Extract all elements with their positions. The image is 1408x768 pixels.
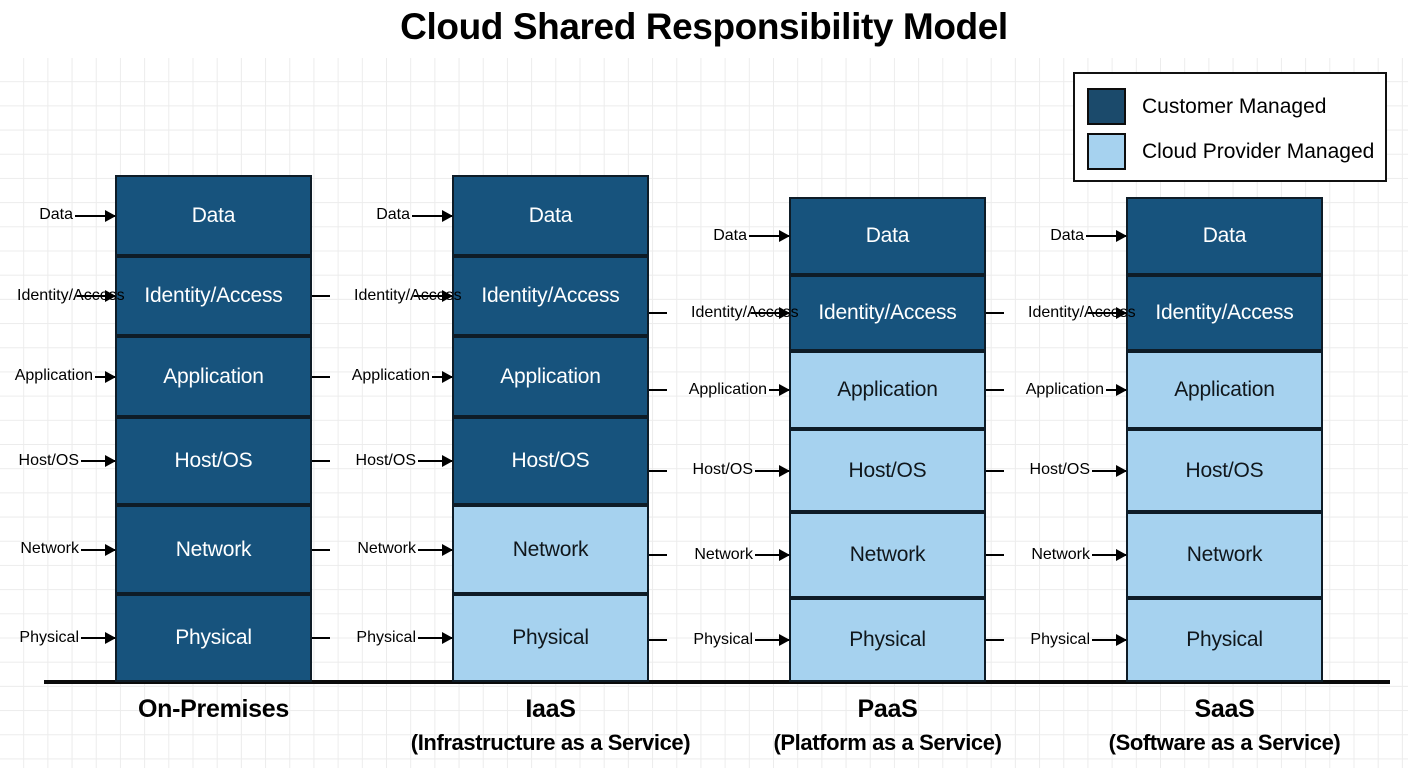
legend-item-label: Customer Managed <box>1142 95 1326 119</box>
arrow-label-paas-network: Network <box>663 544 789 566</box>
arrow-text: Application <box>689 382 767 399</box>
stack-saas: DataIdentity/AccessApplicationHost/OSNet… <box>1126 197 1323 682</box>
layer-label: Host/OS <box>849 459 927 483</box>
cloud-provider-managed-swatch <box>1087 133 1126 170</box>
connector-line <box>986 470 1004 472</box>
connector-line <box>312 295 330 297</box>
layer-label: Host/OS <box>1186 459 1264 483</box>
layer-saas-application[interactable]: Application <box>1126 351 1323 429</box>
arrow-text: Application <box>352 368 430 385</box>
arrow-label-paas-identity-access: Identity/Access <box>663 302 789 324</box>
layer-label: Application <box>1174 378 1275 402</box>
layer-saas-identity-access[interactable]: Identity/Access <box>1126 275 1323 351</box>
arrow-head-icon <box>769 389 789 391</box>
layer-label: Application <box>163 365 264 389</box>
arrow-head-icon <box>418 460 452 462</box>
connector-line <box>649 312 667 314</box>
layer-label: Physical <box>849 628 926 652</box>
layer-iaas-identity-access[interactable]: Identity/Access <box>452 256 649 336</box>
layer-label: Physical <box>1186 628 1263 652</box>
layer-label: Host/OS <box>512 449 590 473</box>
arrow-label-saas-application: Application <box>1000 379 1126 401</box>
layer-label: Application <box>837 378 938 402</box>
arrow-label-saas-host-os: Host/OS <box>1000 460 1126 482</box>
arrow-text: Host/OS <box>19 453 79 470</box>
arrow-text: Host/OS <box>356 453 416 470</box>
arrow-head-icon <box>749 235 789 237</box>
layer-iaas-physical[interactable]: Physical <box>452 594 649 682</box>
arrow-text: Network <box>357 541 416 558</box>
arrow-text: Physical <box>356 630 416 647</box>
layer-iaas-network[interactable]: Network <box>452 505 649 594</box>
connector-line <box>649 639 667 641</box>
layer-paas-network[interactable]: Network <box>789 512 986 598</box>
layer-on-premises-host-os[interactable]: Host/OS <box>115 417 312 505</box>
arrow-text: Data <box>1050 228 1084 245</box>
arrow-text: Data <box>713 228 747 245</box>
stack-paas: DataIdentity/AccessApplicationHost/OSNet… <box>789 197 986 682</box>
arrow-head-icon <box>81 549 115 551</box>
arrow-head-icon <box>1088 312 1126 314</box>
layer-label: Data <box>866 224 910 248</box>
layer-iaas-application[interactable]: Application <box>452 336 649 417</box>
layer-saas-data[interactable]: Data <box>1126 197 1323 275</box>
stack-on-premises: DataIdentity/AccessApplicationHost/OSNet… <box>115 175 312 682</box>
column-caption-on-premises: On-Premises <box>25 695 402 724</box>
column-caption-paas: PaaS(Platform as a Service) <box>699 695 1076 756</box>
connector-line <box>312 376 330 378</box>
arrow-head-icon <box>1106 389 1126 391</box>
layer-paas-data[interactable]: Data <box>789 197 986 275</box>
arrow-head-icon <box>755 639 789 641</box>
arrow-head-icon <box>412 215 452 217</box>
column-title: IaaS <box>362 695 739 724</box>
diagram-canvas: Cloud Shared Responsibility Model Custom… <box>0 0 1408 768</box>
page-title: Cloud Shared Responsibility Model <box>0 6 1408 48</box>
connector-line <box>649 470 667 472</box>
layer-on-premises-identity-access[interactable]: Identity/Access <box>115 256 312 336</box>
arrow-label-on-premises-physical: Physical <box>3 627 115 649</box>
layer-label: Physical <box>175 626 252 650</box>
arrow-text: Data <box>376 207 410 224</box>
arrow-head-icon <box>95 376 115 378</box>
column-subtitle: (Infrastructure as a Service) <box>362 730 739 756</box>
arrow-text: Host/OS <box>1030 462 1090 479</box>
connector-line <box>312 637 330 639</box>
arrow-label-saas-physical: Physical <box>1000 629 1126 651</box>
layer-on-premises-application[interactable]: Application <box>115 336 312 417</box>
column-subtitle: (Software as a Service) <box>1036 730 1408 756</box>
arrow-head-icon <box>755 470 789 472</box>
arrow-label-iaas-network: Network <box>326 539 452 561</box>
connector-line <box>986 389 1004 391</box>
column-title: SaaS <box>1036 695 1408 724</box>
layer-paas-host-os[interactable]: Host/OS <box>789 429 986 512</box>
column-subtitle: (Platform as a Service) <box>699 730 1076 756</box>
arrow-text: Physical <box>19 630 79 647</box>
arrow-text: Host/OS <box>693 462 753 479</box>
arrow-head-icon <box>1092 554 1126 556</box>
layer-iaas-host-os[interactable]: Host/OS <box>452 417 649 505</box>
arrow-head-icon <box>432 376 452 378</box>
arrow-label-on-premises-network: Network <box>3 539 115 561</box>
legend-item-customer-managed: Customer Managed <box>1087 84 1373 129</box>
layer-label: Network <box>513 538 589 562</box>
column-title: PaaS <box>699 695 1076 724</box>
arrow-head-icon <box>75 215 115 217</box>
arrow-label-iaas-application: Application <box>326 366 452 388</box>
layer-saas-host-os[interactable]: Host/OS <box>1126 429 1323 512</box>
arrow-label-on-premises-data: Data <box>3 205 115 227</box>
layer-label: Identity/Access <box>818 301 956 325</box>
layer-label: Host/OS <box>175 449 253 473</box>
layer-paas-physical[interactable]: Physical <box>789 598 986 682</box>
arrow-head-icon <box>81 637 115 639</box>
layer-label: Network <box>1187 543 1263 567</box>
layer-label: Physical <box>512 626 589 650</box>
arrow-text: Physical <box>693 632 753 649</box>
layer-on-premises-network[interactable]: Network <box>115 505 312 594</box>
arrow-label-paas-host-os: Host/OS <box>663 460 789 482</box>
customer-managed-swatch <box>1087 88 1126 125</box>
layer-label: Data <box>192 204 236 228</box>
layer-on-premises-physical[interactable]: Physical <box>115 594 312 682</box>
layer-saas-network[interactable]: Network <box>1126 512 1323 598</box>
arrow-label-iaas-physical: Physical <box>326 627 452 649</box>
layer-label: Application <box>500 365 601 389</box>
connector-line <box>986 639 1004 641</box>
arrow-label-iaas-identity-access: Identity/Access <box>326 285 452 307</box>
layer-label: Identity/Access <box>1155 301 1293 325</box>
arrow-text: Physical <box>1030 632 1090 649</box>
layer-label: Network <box>850 543 926 567</box>
arrow-text: Application <box>15 368 93 385</box>
connector-line <box>312 549 330 551</box>
layer-on-premises-data[interactable]: Data <box>115 175 312 256</box>
stack-iaas: DataIdentity/AccessApplicationHost/OSNet… <box>452 175 649 682</box>
arrow-head-icon <box>77 295 115 297</box>
layer-paas-identity-access[interactable]: Identity/Access <box>789 275 986 351</box>
arrow-label-paas-data: Data <box>663 225 789 247</box>
layer-label: Identity/Access <box>144 284 282 308</box>
arrow-text: Application <box>1026 382 1104 399</box>
connector-line <box>649 389 667 391</box>
arrow-head-icon <box>1092 470 1126 472</box>
arrow-head-icon <box>81 460 115 462</box>
legend: Customer Managed Cloud Provider Managed <box>1073 72 1387 182</box>
arrow-label-on-premises-application: Application <box>3 366 115 388</box>
arrow-head-icon <box>418 637 452 639</box>
arrow-text: Identity/Access <box>691 304 749 321</box>
arrow-head-icon <box>751 312 789 314</box>
arrow-label-iaas-data: Data <box>326 205 452 227</box>
layer-paas-application[interactable]: Application <box>789 351 986 429</box>
connector-line <box>312 460 330 462</box>
arrow-head-icon <box>755 554 789 556</box>
layer-label: Data <box>1203 224 1247 248</box>
layer-saas-physical[interactable]: Physical <box>1126 598 1323 682</box>
connector-line <box>649 554 667 556</box>
arrow-text: Identity/Access <box>1028 304 1086 321</box>
connector-line <box>986 312 1004 314</box>
connector-line <box>986 554 1004 556</box>
layer-iaas-data[interactable]: Data <box>452 175 649 256</box>
arrow-label-saas-data: Data <box>1000 225 1126 247</box>
arrow-label-saas-network: Network <box>1000 544 1126 566</box>
legend-item-cloud-provider-managed: Cloud Provider Managed <box>1087 129 1373 174</box>
arrow-label-on-premises-identity-access: Identity/Access <box>3 285 115 307</box>
arrow-text: Identity/Access <box>17 287 75 304</box>
arrow-label-paas-application: Application <box>663 379 789 401</box>
arrow-head-icon <box>414 295 452 297</box>
layer-label: Data <box>529 204 573 228</box>
layer-label: Identity/Access <box>481 284 619 308</box>
arrow-head-icon <box>1086 235 1126 237</box>
layer-label: Network <box>176 538 252 562</box>
arrow-head-icon <box>418 549 452 551</box>
arrow-label-saas-identity-access: Identity/Access <box>1000 302 1126 324</box>
legend-item-label: Cloud Provider Managed <box>1142 140 1374 164</box>
arrow-label-iaas-host-os: Host/OS <box>326 450 452 472</box>
arrow-text: Identity/Access <box>354 287 412 304</box>
column-caption-iaas: IaaS(Infrastructure as a Service) <box>362 695 739 756</box>
arrow-text: Data <box>39 207 73 224</box>
arrow-text: Network <box>1031 547 1090 564</box>
column-caption-saas: SaaS(Software as a Service) <box>1036 695 1408 756</box>
arrow-label-paas-physical: Physical <box>663 629 789 651</box>
arrow-label-on-premises-host-os: Host/OS <box>3 450 115 472</box>
arrow-text: Network <box>694 547 753 564</box>
column-title: On-Premises <box>25 695 402 724</box>
arrow-text: Network <box>20 541 79 558</box>
arrow-head-icon <box>1092 639 1126 641</box>
